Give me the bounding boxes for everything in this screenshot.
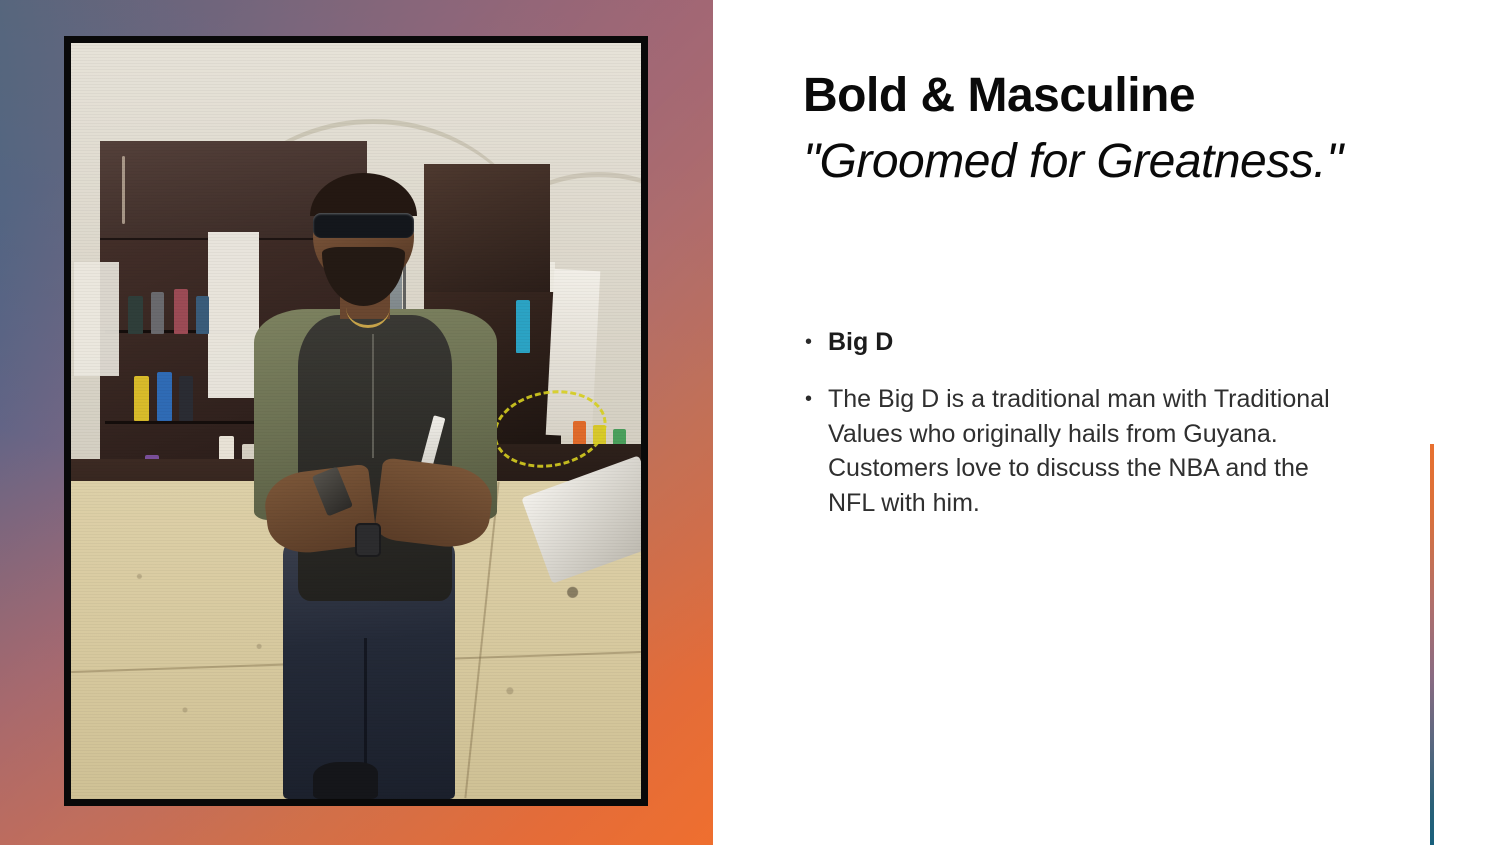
photo-figure-beard (322, 247, 405, 306)
photo-wall-notice-left (74, 262, 120, 375)
photo-bottle (128, 296, 143, 334)
photo-barber-figure (242, 179, 538, 799)
photo-cabinet-handle (122, 156, 125, 224)
list-item-label: Big D (828, 325, 1343, 360)
photo-bottle (151, 292, 165, 334)
list-item: • Big D (803, 325, 1343, 360)
photo-figure-vest-zipper (372, 334, 374, 458)
bullet-marker-icon: • (803, 382, 828, 417)
sunglasses-icon (313, 213, 414, 238)
accent-divider-line (1430, 444, 1434, 845)
page-title: Bold & Masculine (803, 64, 1363, 129)
barbershop-photo (71, 43, 641, 799)
photo-frame (64, 36, 648, 806)
slide-canvas: Bold & Masculine "Groomed for Greatness.… (0, 0, 1504, 845)
photo-figure-shoe (313, 762, 378, 799)
photo-figure-hair (310, 173, 417, 216)
list-item-label: The Big D is a traditional man with Trad… (828, 382, 1343, 520)
page-subtitle-quote: "Groomed for Greatness." (803, 129, 1363, 195)
bullet-list: • Big D • The Big D is a traditional man… (803, 325, 1343, 542)
list-item: • The Big D is a traditional man with Tr… (803, 382, 1343, 520)
photo-bottle (174, 289, 189, 334)
photo-figure-wristwatch (355, 523, 382, 557)
slide-title-block: Bold & Masculine "Groomed for Greatness.… (803, 64, 1363, 195)
photo-bottle (179, 376, 193, 421)
bullet-marker-icon: • (803, 325, 828, 360)
photo-bottle (196, 296, 209, 334)
photo-bottle (134, 376, 149, 421)
slide-content: Bold & Masculine "Groomed for Greatness.… (803, 0, 1423, 845)
photo-bottle (157, 372, 173, 421)
